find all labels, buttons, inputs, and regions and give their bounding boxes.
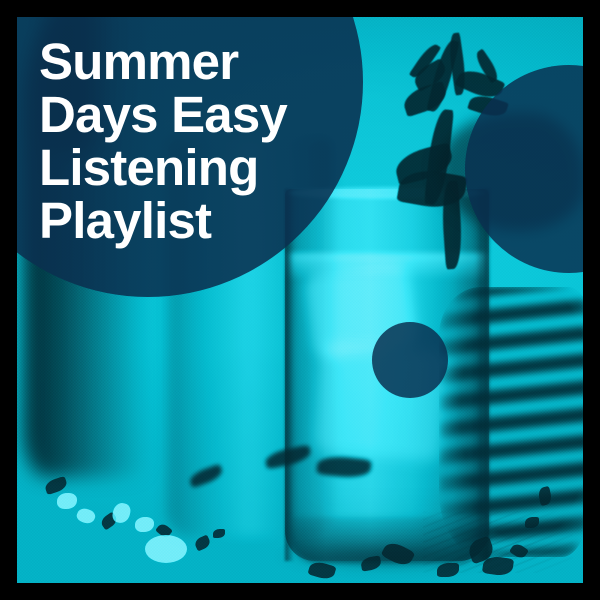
artwork-plate: Summer Days Easy Listening Playlist: [17, 17, 583, 583]
title-line-2: Days Easy: [39, 88, 369, 141]
title-line-1: Summer: [39, 35, 369, 88]
title-line-3: Listening: [39, 141, 369, 194]
lace-pattern: [423, 511, 573, 573]
album-title: Summer Days Easy Listening Playlist: [39, 35, 369, 247]
album-cover: Summer Days Easy Listening Playlist: [0, 0, 600, 600]
title-line-4: Playlist: [39, 194, 369, 247]
